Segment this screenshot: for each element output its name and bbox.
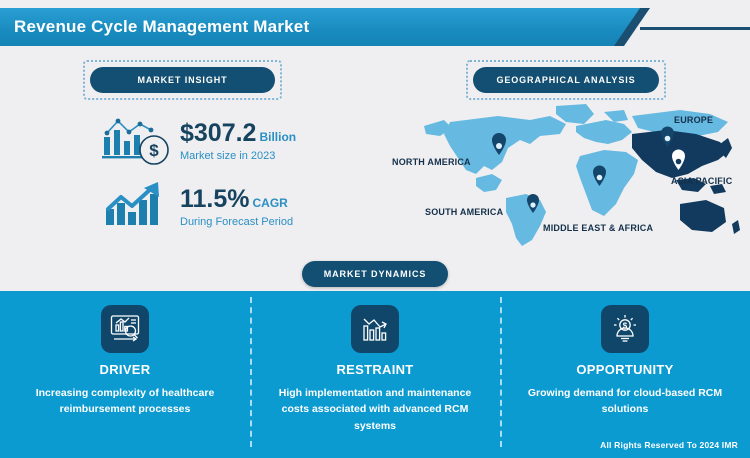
stat-cagr-unit: CAGR — [253, 196, 288, 210]
stat-market-size: $ $307.2Billion Market size in 2023 — [100, 112, 296, 170]
dynamics-column-driver: DRIVER Increasing complexity of healthca… — [0, 305, 250, 418]
map-label-north-america: NORTH AMERICA — [392, 157, 471, 167]
dynamics-title-restraint: RESTRAINT — [336, 362, 413, 377]
geographical-analysis-badge: GEOGRAPHICAL ANALYSIS — [466, 60, 666, 100]
stat-market-size-subtitle: Market size in 2023 — [180, 150, 296, 162]
declining-chart-icon — [351, 305, 399, 353]
stat-cagr-text: 11.5%CAGR During Forecast Period — [180, 186, 293, 228]
lightbulb-dollar-icon: $ — [601, 305, 649, 353]
geographical-analysis-badge-label: GEOGRAPHICAL ANALYSIS — [496, 75, 635, 85]
dynamics-title-driver: DRIVER — [100, 362, 151, 377]
map-label-asia-pacific: ASIA PACIFIC — [671, 176, 732, 186]
stat-market-size-value-row: $307.2Billion — [180, 120, 296, 146]
dynamics-column-restraint: RESTRAINT High implementation and mainte… — [250, 305, 500, 434]
infographic-root: Revenue Cycle Management Market MARKET I… — [0, 0, 750, 458]
stat-cagr: 11.5%CAGR During Forecast Period — [100, 178, 293, 236]
header-banner-group: Revenue Cycle Management Market — [0, 8, 750, 48]
footer-copyright: All Rights Reserved To 2024 IMR — [600, 440, 738, 450]
chart-magnifier-icon — [101, 305, 149, 353]
stat-market-size-text: $307.2Billion Market size in 2023 — [180, 120, 296, 162]
market-dynamics-badge-label: MARKET DYNAMICS — [324, 269, 427, 279]
dynamics-title-opportunity: OPPORTUNITY — [576, 362, 673, 377]
stat-market-size-unit: Billion — [259, 130, 296, 144]
market-dynamics-badge: MARKET DYNAMICS — [302, 261, 448, 287]
stat-cagr-value-row: 11.5%CAGR — [180, 186, 293, 212]
map-label-south-america: SOUTH AMERICA — [425, 207, 503, 217]
svg-text:$: $ — [623, 322, 628, 331]
dynamics-description-restraint: High implementation and maintenance cost… — [266, 385, 484, 434]
dynamics-column-opportunity: $ OPPORTUNITY Growing demand for cloud-b… — [500, 305, 750, 418]
market-dynamics-panel: DRIVER Increasing complexity of healthca… — [0, 291, 750, 458]
page-title: Revenue Cycle Management Market — [14, 17, 309, 37]
market-insight-badge: MARKET INSIGHT — [83, 60, 282, 100]
dynamics-description-driver: Increasing complexity of healthcare reim… — [16, 385, 234, 418]
stat-market-size-value: $307.2 — [180, 119, 256, 147]
header-rule — [640, 27, 750, 30]
market-insight-badge-label: MARKET INSIGHT — [137, 75, 227, 85]
stat-cagr-subtitle: During Forecast Period — [180, 216, 293, 228]
map-label-europe: EUROPE — [674, 115, 713, 125]
dynamics-description-opportunity: Growing demand for cloud-based RCM solut… — [516, 385, 734, 418]
geographical-analysis-badge-pill: GEOGRAPHICAL ANALYSIS — [473, 67, 659, 93]
world-map: NORTH AMERICA SOUTH AMERICA EUROPE MIDDL… — [380, 100, 750, 260]
svg-text:$: $ — [149, 141, 159, 160]
bar-chart-dollar-icon: $ — [100, 112, 172, 170]
growth-arrow-icon — [100, 178, 172, 236]
stat-cagr-value: 11.5% — [180, 185, 250, 213]
map-label-middle-east-africa: MIDDLE EAST & AFRICA — [543, 223, 653, 233]
market-insight-badge-pill: MARKET INSIGHT — [90, 67, 275, 93]
